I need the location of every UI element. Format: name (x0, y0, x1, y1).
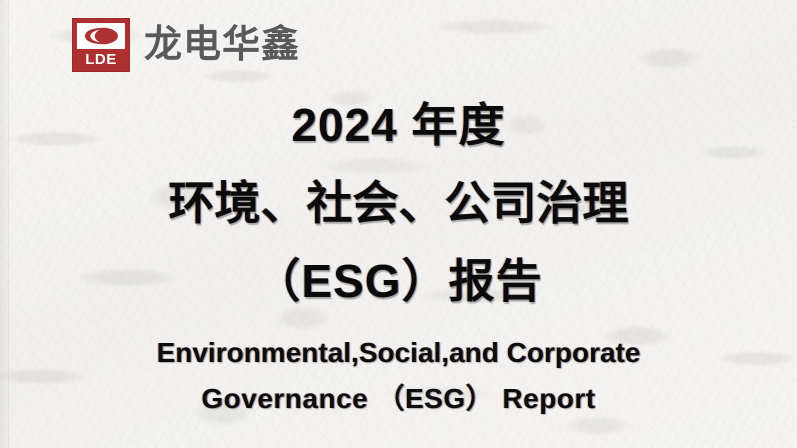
title-line-esg-cn: 环境、社会、公司治理 (0, 164, 797, 242)
title-line-year: 2024 年度 (0, 86, 797, 164)
subtitle-line-1: Environmental,Social,and Corporate (0, 330, 797, 376)
brand-lockup: LDE 龙电华鑫 (72, 18, 300, 72)
subtitle-line-2: Governance （ESG） Report (0, 376, 797, 422)
company-logo-mark: LDE (72, 18, 130, 72)
logo-emblem-panel (77, 23, 125, 49)
company-name-cn: 龙电华鑫 (144, 26, 300, 64)
logo-wordmark: LDE (85, 49, 117, 71)
report-subtitle: Environmental,Social,and Corporate Gover… (0, 330, 797, 422)
report-title: 2024 年度 环境、社会、公司治理 （ESG）报告 (0, 86, 797, 320)
swoosh-ellipse-icon (81, 26, 121, 46)
esg-report-cover-slide: LDE 龙电华鑫 2024 年度 环境、社会、公司治理 （ESG）报告 Envi… (0, 0, 797, 448)
title-line-report-cn: （ESG）报告 (0, 242, 797, 320)
